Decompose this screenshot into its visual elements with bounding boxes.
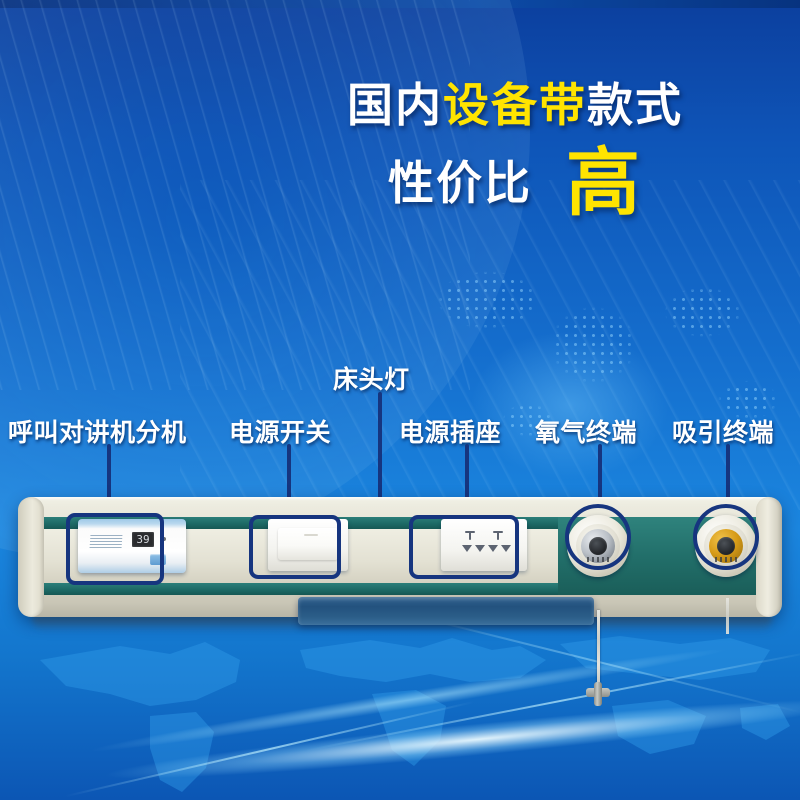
oxygen-terminal-port[interactable]	[589, 537, 607, 555]
power-switch-plate[interactable]	[268, 519, 348, 571]
suction-drain-cord	[726, 598, 729, 634]
callout-label-intercom: 呼叫对讲机分机	[8, 413, 187, 449]
socket-slot-icon-2	[475, 545, 485, 552]
power-socket-plate[interactable]	[441, 519, 527, 571]
callout-label-power-socket: 电源插座	[399, 413, 501, 449]
nurse-call-intercom-unit[interactable]: 39	[78, 519, 186, 573]
rocker-nick-icon	[304, 534, 318, 536]
speaker-grille-icon	[90, 535, 123, 548]
background-glow-spot	[470, 330, 670, 480]
suction-terminal-marking	[715, 557, 737, 562]
headline-line2-yellow: 高	[566, 150, 642, 217]
intercom-call-button[interactable]	[150, 554, 166, 565]
headline-line1-yellow: 设备带	[443, 78, 587, 132]
cord-fitting-vertical-icon	[594, 682, 602, 706]
socket-slot-icon-1	[462, 545, 472, 552]
socket-pin-pair-right	[493, 531, 503, 540]
socket-pin-horizontal-icon	[465, 531, 475, 533]
callout-label-suction: 吸引终端	[672, 413, 774, 449]
callout-label-bedside-lamp: 床头灯	[333, 360, 410, 396]
suction-terminal-port[interactable]	[717, 537, 735, 555]
socket-pin-pair-left	[465, 531, 475, 540]
product-promo-image: 国内设备带款式 性价比 高 呼叫对讲机分机 电源开关 床头灯 电源插座 氧气终端…	[0, 0, 800, 800]
headline-line2-white: 性价比	[388, 160, 532, 206]
socket-slot-icon-4	[501, 545, 511, 552]
medical-bedhead-panel: 39	[18, 497, 782, 632]
panel-end-cap-right	[756, 497, 782, 617]
headline-line1-white-a: 国内	[347, 78, 443, 132]
suction-terminal[interactable]	[695, 515, 757, 577]
headline-block: 国内设备带款式 性价比 高	[250, 82, 780, 217]
socket-pin-horizontal-icon	[493, 531, 503, 533]
oxygen-terminal-marking	[587, 557, 609, 562]
panel-end-cap-left	[18, 497, 44, 617]
pull-cord-fitting[interactable]	[586, 682, 610, 706]
callout-label-oxygen: 氧气终端	[535, 413, 637, 449]
socket-slot-icon-3	[488, 545, 498, 552]
pull-cord[interactable]	[597, 610, 600, 688]
status-led-icon	[162, 537, 166, 541]
headline-line-1: 国内设备带款式	[250, 82, 780, 128]
headline-line1-white-b: 款式	[587, 78, 683, 132]
bedside-lamp-diffuser	[298, 597, 594, 625]
power-switch-rocker[interactable]	[278, 528, 338, 560]
intercom-display: 39	[132, 532, 154, 547]
callout-label-power-switch: 电源开关	[229, 413, 331, 449]
oxygen-terminal[interactable]	[567, 515, 629, 577]
headline-line-2: 性价比 高	[250, 150, 780, 217]
